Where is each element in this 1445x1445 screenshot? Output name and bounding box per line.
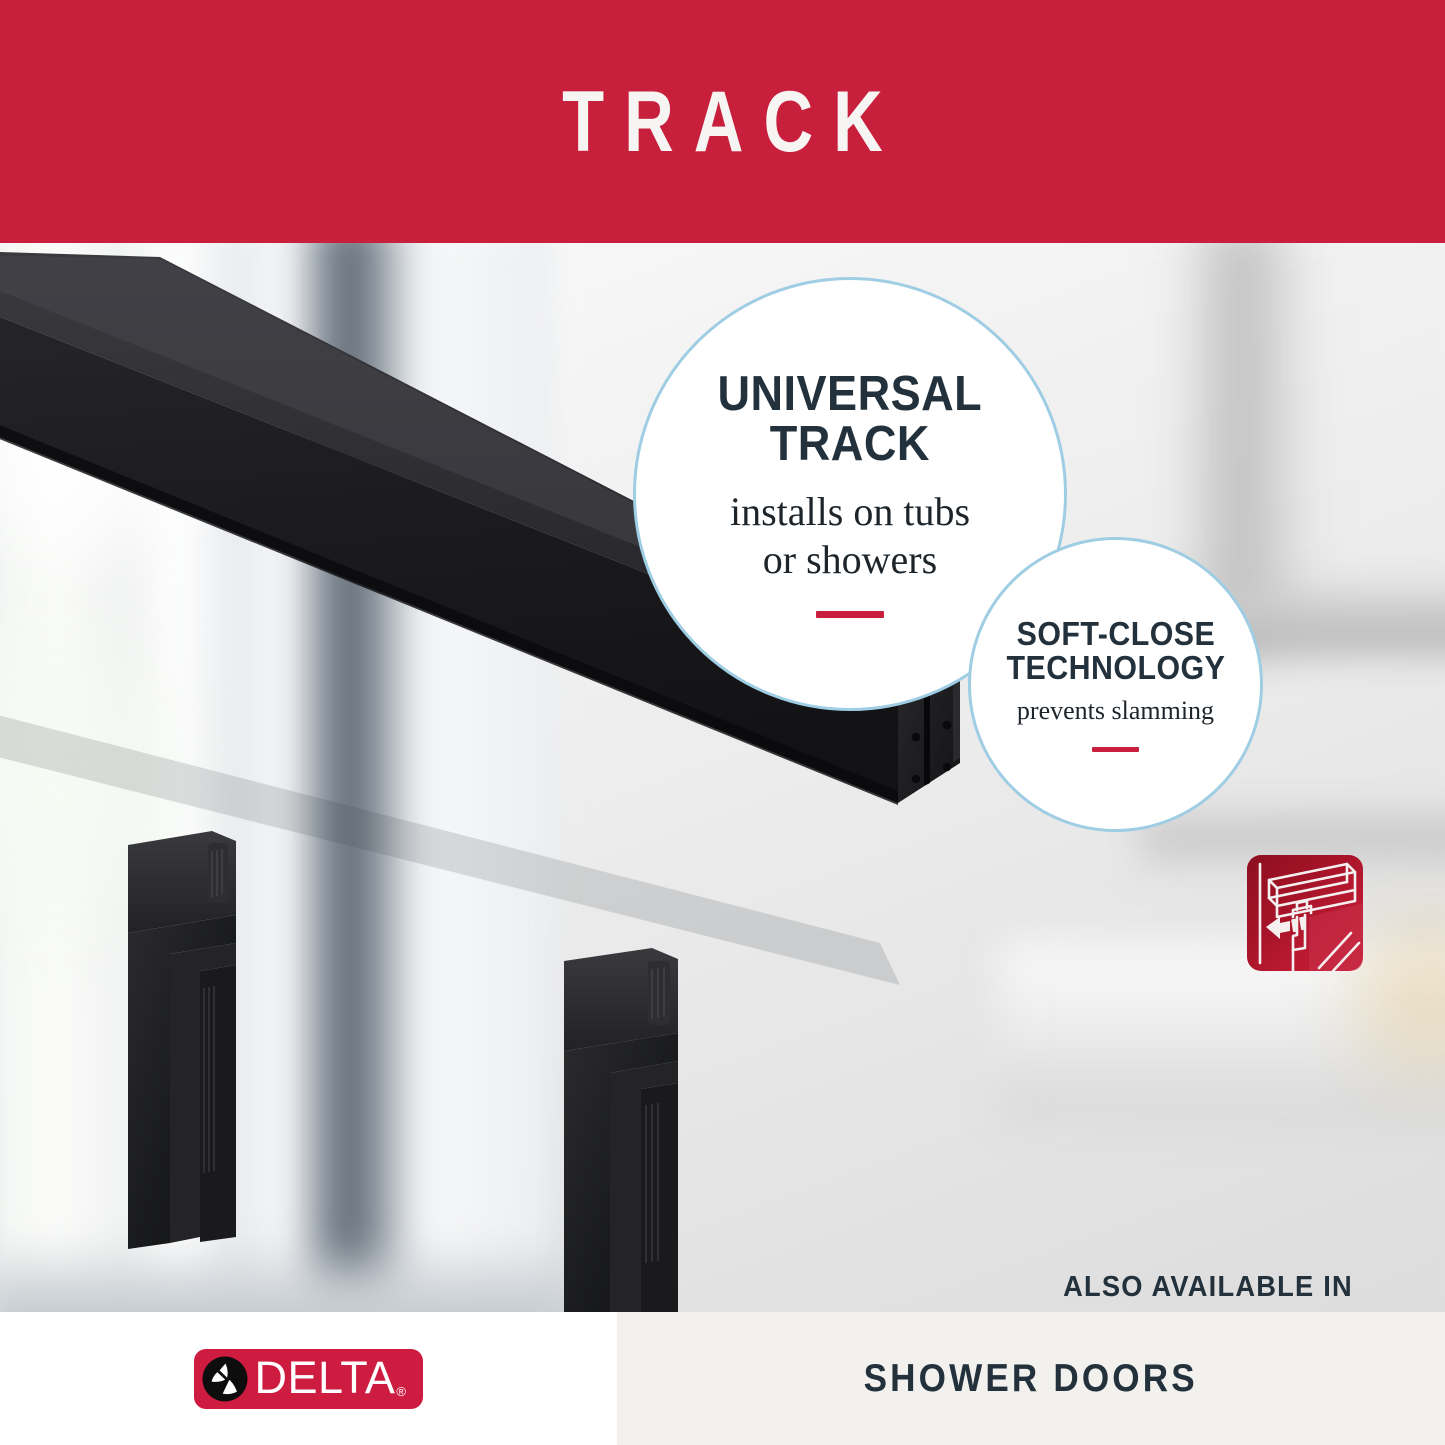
callout-subtext: prevents slamming xyxy=(1017,695,1214,727)
callout-headline-line-2: TECHNOLOGY xyxy=(1006,651,1225,685)
callout-headline-line-1: UNIVERSAL xyxy=(718,370,983,420)
background-window-sill xyxy=(0,1243,580,1312)
callout-headline: UNIVERSAL TRACK xyxy=(718,370,983,470)
callout-subtext: installs on tubs or showers xyxy=(730,488,970,586)
background-window-frame xyxy=(290,243,410,1312)
footer-brand-panel: DELTA® xyxy=(0,1312,617,1445)
callout-subtext-line-2: or showers xyxy=(730,536,970,585)
header-banner: TRACK xyxy=(0,0,1445,243)
callout-headline: SOFT-CLOSE TECHNOLOGY xyxy=(1006,617,1225,684)
callout-soft-close-technology: SOFT-CLOSE TECHNOLOGY prevents slamming xyxy=(968,537,1263,832)
callout-subtext-line-1: prevents slamming xyxy=(1017,695,1214,727)
registered-mark: ® xyxy=(396,1384,406,1399)
soft-close-track-arrow-icon xyxy=(1247,855,1363,971)
delta-wordmark-text: DELTA xyxy=(255,1352,396,1403)
also-available-finishes: ALSO AVAILABLE IN BRUSHED NICKEL CHROME xyxy=(1018,1271,1398,1312)
callout-divider-rule xyxy=(816,611,884,618)
callout-divider-rule xyxy=(1092,747,1139,752)
delta-triangle-mark-icon xyxy=(202,1356,248,1402)
footer-tagline: SHOWER DOORS xyxy=(864,1357,1198,1401)
product-photo-stage: UNIVERSAL TRACK installs on tubs or show… xyxy=(0,243,1445,1312)
delta-logo[interactable]: DELTA® xyxy=(194,1349,424,1409)
delta-wordmark: DELTA® xyxy=(255,1355,406,1400)
page-title: TRACK xyxy=(542,79,903,165)
callout-subtext-line-1: installs on tubs xyxy=(730,488,970,537)
callout-headline-line-2: TRACK xyxy=(718,420,983,470)
footer: DELTA® SHOWER DOORS xyxy=(0,1312,1445,1445)
footer-tagline-panel: SHOWER DOORS xyxy=(617,1312,1445,1445)
finishes-title: ALSO AVAILABLE IN xyxy=(1029,1271,1386,1304)
product-feature-poster: TRACK xyxy=(0,0,1445,1445)
callout-headline-line-1: SOFT-CLOSE xyxy=(1006,617,1225,651)
